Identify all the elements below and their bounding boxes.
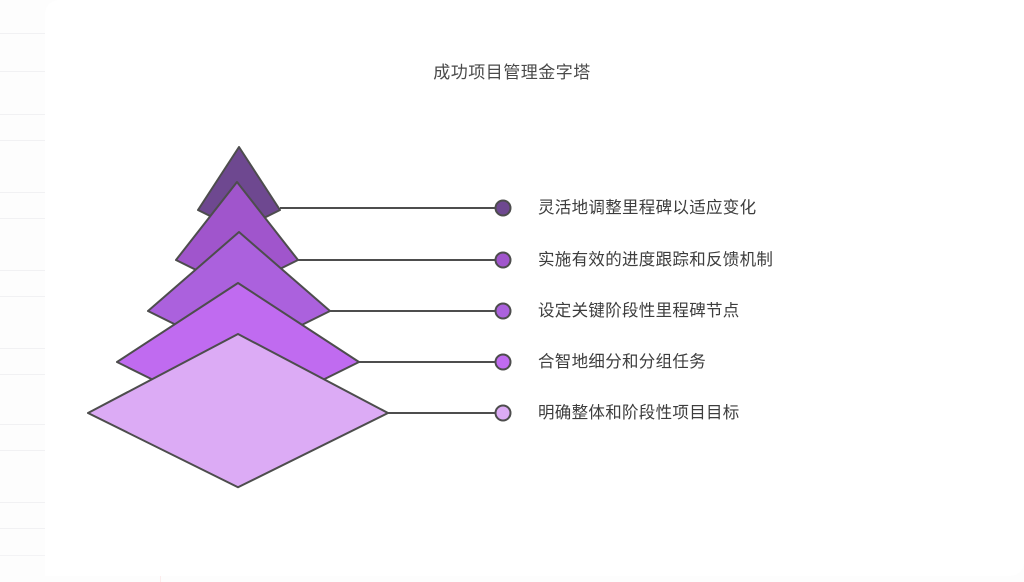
marker-dot-group (496, 201, 511, 421)
level-label-1: 灵活地调整里程碑以适应变化 (538, 200, 756, 217)
marker-dot-4[interactable] (496, 355, 511, 370)
marker-dot-2[interactable] (496, 253, 511, 268)
pyramid-chart (0, 0, 1024, 582)
level-label-3: 设定关键阶段性里程碑节点 (538, 303, 740, 320)
level-label-2: 实施有效的进度跟踪和反馈机制 (538, 252, 773, 269)
marker-dot-1[interactable] (496, 201, 511, 216)
marker-dot-5[interactable] (496, 406, 511, 421)
pyramid-layer-group (88, 147, 388, 487)
marker-dot-3[interactable] (496, 304, 511, 319)
level-label-5: 明确整体和阶段性项目目标 (538, 405, 740, 422)
screenshot-root: 成功项目管理金字塔 灵活地调整里程碑以适应变化实施有效的进度跟踪和反馈机制设定关… (0, 0, 1024, 582)
level-label-4: 合智地细分和分组任务 (538, 354, 706, 371)
